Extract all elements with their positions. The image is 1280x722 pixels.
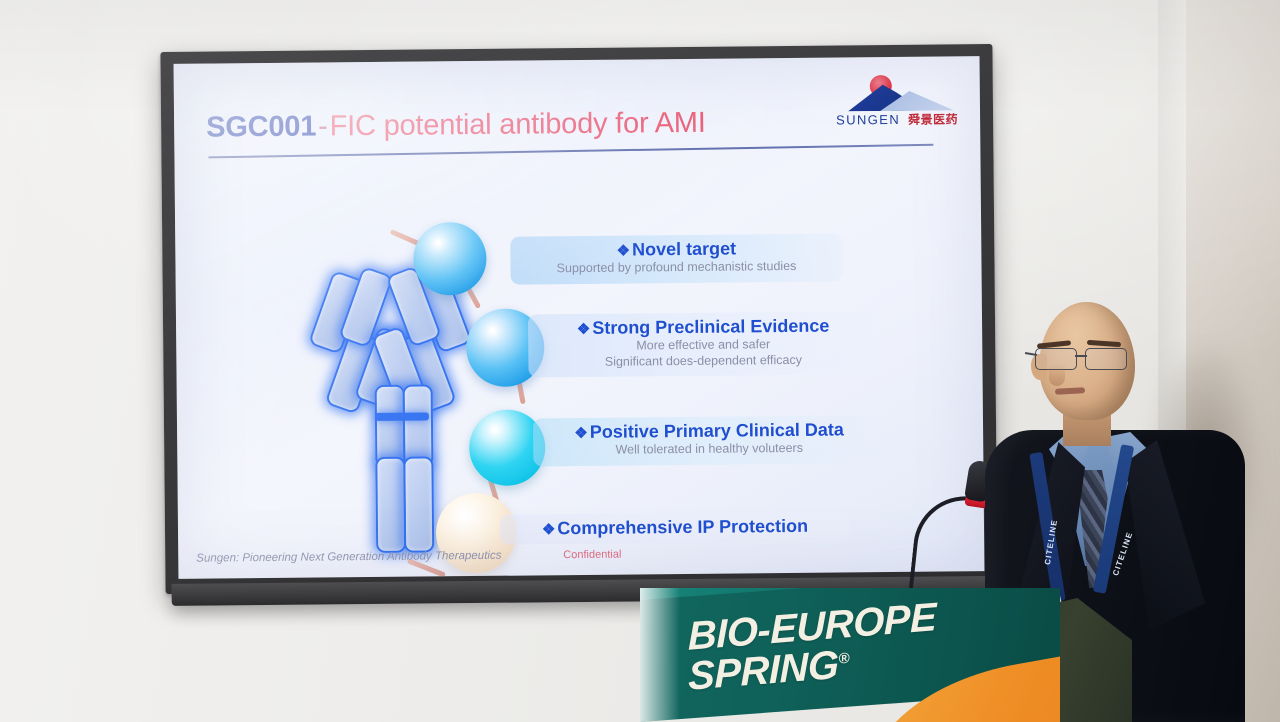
bullet-subtext: Supported by profound mechanistic studie… — [526, 259, 826, 278]
diamond-bullet-icon: ❖ — [574, 425, 588, 442]
bullet-callout-clinical-data: ❖Positive Primary Clinical Data Well tol… — [533, 415, 885, 466]
slide-title-code: SGC001 — [206, 111, 316, 144]
bullet-heading: ❖Comprehensive IP Protection — [516, 516, 834, 540]
logo-name-cn: 舜景医药 — [908, 110, 958, 127]
slide: SGC001-FIC potential antibody for AMI SU… — [174, 56, 985, 579]
antibody-hinge — [375, 412, 429, 421]
logo-wordmark: SUNGEN 舜景医药 — [836, 110, 960, 128]
bullet-callout-ip-protection: ❖Comprehensive IP Protection — [500, 511, 850, 544]
bullet-callout-preclinical-evidence: ❖Strong Preclinical Evidence More effect… — [528, 311, 879, 378]
molecule-sphere — [413, 222, 487, 296]
slide-title-rest: FIC potential antibody for AMI — [329, 107, 705, 143]
speaker-nose — [1049, 364, 1065, 386]
bullet-heading: ❖Novel target — [526, 238, 826, 262]
diamond-bullet-icon: ❖ — [542, 521, 556, 538]
slide-footer-confidential: Confidential — [563, 549, 621, 562]
bullet-subtext: Significant does-dependent efficacy — [544, 352, 862, 371]
bullet-heading-text: Novel target — [632, 238, 736, 259]
slide-title-dash: - — [316, 110, 330, 142]
glasses-lens — [1085, 348, 1127, 370]
sungen-logo: SUNGEN 舜景医药 — [828, 72, 961, 131]
bullet-callout-novel-target: ❖Novel target Supported by profound mech… — [510, 233, 842, 284]
antibody-stem-segment — [403, 384, 434, 466]
title-underline — [208, 144, 933, 159]
presentation-scene: SGC001-FIC potential antibody for AMI SU… — [0, 0, 1280, 722]
presentation-display: SGC001-FIC potential antibody for AMI SU… — [160, 44, 997, 594]
bullet-heading-text: Comprehensive IP Protection — [557, 516, 808, 538]
logo-name-en: SUNGEN — [836, 112, 900, 128]
podium-left-highlight — [640, 588, 680, 722]
bullet-heading: ❖Positive Primary Clinical Data — [549, 419, 869, 443]
podium-lectern: BIO-EUROPE SPRING® — [640, 588, 1060, 722]
antibody-stem-segment — [375, 385, 406, 467]
registered-trademark-icon: ® — [838, 650, 849, 668]
diamond-bullet-icon: ❖ — [577, 321, 591, 338]
diamond-bullet-icon: ❖ — [617, 243, 631, 260]
antibody-tail-segment — [375, 457, 406, 553]
slide-title: SGC001-FIC potential antibody for AMI — [206, 107, 706, 145]
glasses-bridge — [1075, 355, 1087, 357]
bullet-subtext: Well tolerated in healthy voluteers — [549, 440, 869, 459]
bullet-heading-text: Strong Preclinical Evidence — [592, 316, 829, 338]
bullet-heading: ❖Strong Preclinical Evidence — [544, 315, 862, 339]
display-screen: SGC001-FIC potential antibody for AMI SU… — [174, 56, 985, 579]
bullet-heading-text: Positive Primary Clinical Data — [590, 419, 844, 441]
antibody-tail-segment — [403, 456, 434, 552]
